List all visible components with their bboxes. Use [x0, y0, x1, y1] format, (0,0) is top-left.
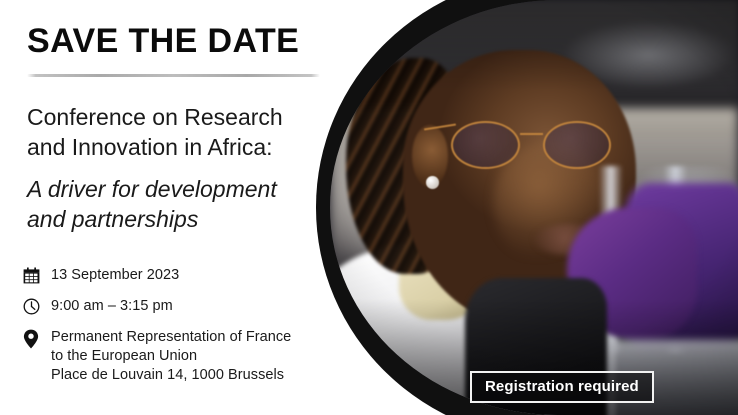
detail-text-venue: Permanent Representation of France to th…: [51, 328, 291, 385]
event-details: 13 September 2023 9:00 am – 3:15 pm: [23, 266, 333, 385]
detail-row-time: 9:00 am – 3:15 pm: [23, 297, 333, 319]
save-the-date-poster: SAVE THE DATE Conference on Research and…: [0, 0, 738, 415]
clock-icon: [23, 297, 51, 319]
hero-photo-region: [330, 0, 738, 415]
detail-row-venue: Permanent Representation of France to th…: [23, 328, 333, 385]
tagline-line-2: and partnerships: [27, 204, 332, 234]
tagline-line-1: A driver for development: [27, 174, 332, 204]
venue-address: Place de Louvain 14, 1000 Brussels: [51, 366, 291, 385]
text-column: SAVE THE DATE Conference on Research and…: [0, 0, 340, 415]
calendar-icon: [23, 266, 51, 288]
lab-scientist-photo: [330, 0, 738, 415]
conference-tagline: A driver for development and partnership…: [27, 174, 332, 234]
event-time: 9:00 am – 3:15 pm: [51, 297, 173, 316]
photo-mask: [330, 0, 738, 415]
venue-name-line-1: Permanent Representation of France: [51, 328, 291, 347]
detail-text-date: 13 September 2023: [51, 266, 179, 285]
map-pin-icon: [23, 328, 51, 350]
subtitle-line-2: and Innovation in Africa:: [27, 132, 327, 162]
title-divider: [27, 74, 320, 77]
venue-name-line-2: to the European Union: [51, 347, 291, 366]
subtitle-line-1: Conference on Research: [27, 102, 327, 132]
event-date: 13 September 2023: [51, 266, 179, 285]
page-title: SAVE THE DATE: [27, 22, 299, 61]
conference-subtitle: Conference on Research and Innovation in…: [27, 102, 327, 162]
detail-text-time: 9:00 am – 3:15 pm: [51, 297, 173, 316]
photo-vignette: [330, 0, 738, 415]
registration-required-badge[interactable]: Registration required: [470, 371, 654, 403]
detail-row-date: 13 September 2023: [23, 266, 333, 288]
